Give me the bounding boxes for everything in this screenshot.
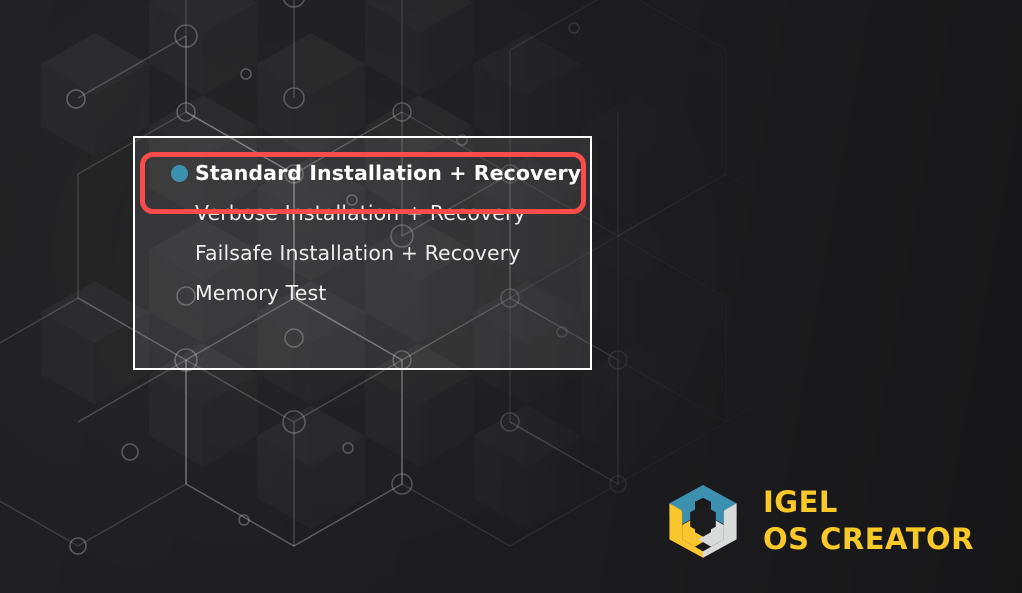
selected-bullet-slot	[171, 165, 195, 182]
brand-line-os-creator: OS CREATOR	[763, 521, 974, 558]
boot-menu-item-label: Standard Installation + Recovery	[195, 163, 581, 184]
boot-menu-list: Standard Installation + Recovery Verbose…	[135, 138, 590, 368]
boot-menu-item-failsafe-installation[interactable]: Failsafe Installation + Recovery	[135, 233, 590, 273]
brand-wordmark: IGEL OS CREATOR	[763, 484, 974, 558]
boot-screen: Standard Installation + Recovery Verbose…	[0, 0, 1022, 593]
boot-menu-item-memory-test[interactable]: Memory Test	[135, 273, 590, 313]
boot-menu-item-label: Failsafe Installation + Recovery	[195, 243, 520, 264]
boot-menu-item-label: Memory Test	[195, 283, 326, 304]
boot-menu-item-label: Verbose Installation + Recovery	[195, 203, 526, 224]
brand-logo: IGEL OS CREATOR	[663, 480, 963, 562]
igel-hexagon-logo-icon	[663, 481, 743, 561]
brand-line-igel: IGEL	[763, 484, 974, 521]
boot-menu-item-standard-installation[interactable]: Standard Installation + Recovery	[135, 153, 590, 193]
boot-menu-panel: Standard Installation + Recovery Verbose…	[133, 136, 592, 370]
selected-bullet-icon	[171, 165, 188, 182]
boot-menu-item-verbose-installation[interactable]: Verbose Installation + Recovery	[135, 193, 590, 233]
